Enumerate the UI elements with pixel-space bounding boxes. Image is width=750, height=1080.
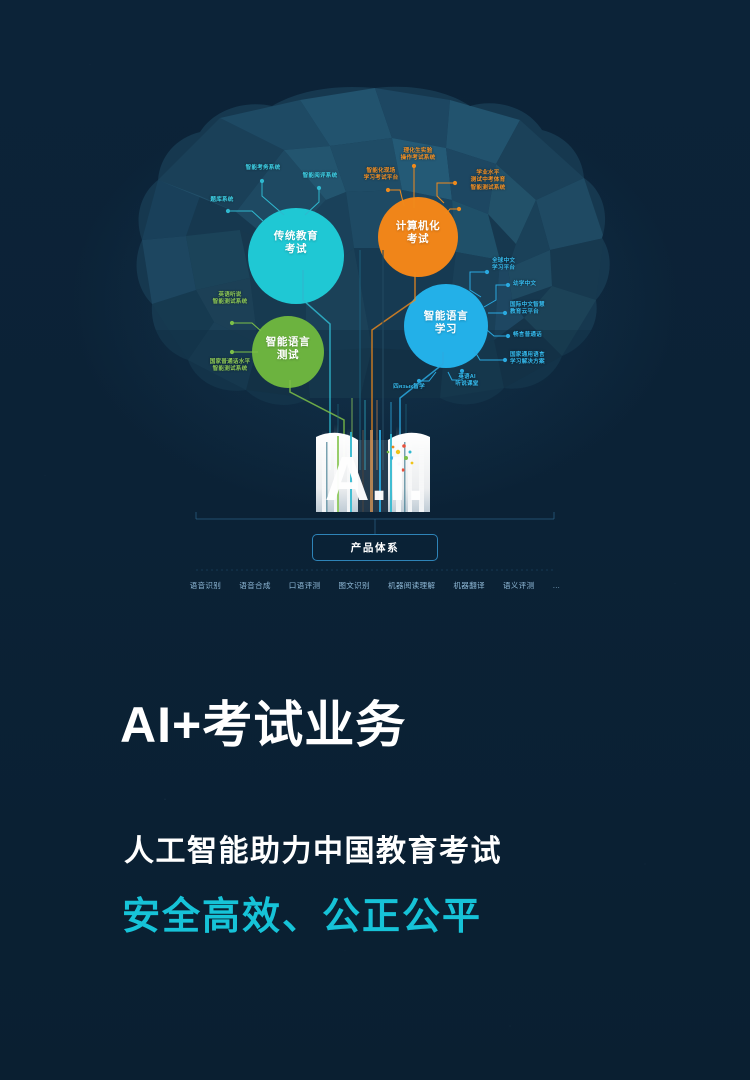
node-label-question-bank: 题库系统 [196,197,248,204]
hero-illustration: A.I. 传统教育 考试 计算机化 考试 智能语言 测试 智能语言 学习 智能考… [0,0,750,620]
tag-item[interactable]: 语音识别 [181,580,231,591]
bubble-intelligent-language-learning[interactable] [404,284,488,368]
node-label-academic-level-test: 学业水平 测试中考体育 智能测试系统 [452,170,524,192]
tag-item[interactable]: 图文识别 [329,580,379,591]
node-label-preschool-chinese: 幼学中文 [513,281,577,288]
tagline: 安全高效、公正公平 [122,892,482,942]
node-label-intelligent-grading: 智能阅评系统 [289,173,351,180]
page-root: A.I. 传统教育 考试 计算机化 考试 智能语言 测试 智能语言 学习 智能考… [0,0,750,1080]
node-label-smart-learning: 四язык智学 [382,384,436,391]
node-label-changyan-putonghua: 畅言普通话 [513,332,577,339]
node-label-global-chinese-learning-platform: 全球中文 学习平台 [492,258,556,273]
hero-copy-block: AI+考试业务 人工智能助力中国教育考试 安全高效、公正公平 [0,620,750,1080]
tag-item[interactable]: 语义评测 [494,580,544,591]
product-system-pill[interactable]: 产品体系 [312,534,438,561]
node-label-putonghua-proficiency-test: 国家普通话水平 智能测试系统 [190,359,270,374]
node-label-smart-onsite-platform: 智能化现场 学习考试平台 [348,168,414,183]
tag-item-more[interactable]: … [543,581,569,590]
node-label-national-language-solution: 国家通用语言 学习解决方案 [510,352,582,367]
bubble-traditional-education-exam[interactable] [248,208,344,304]
node-label-english-listening-speaking-test: 英语听说 智能测试系统 [194,292,266,307]
node-label-lab-operation-exam: 理化生实验 操作考试系统 [385,148,451,163]
capability-tag-row: 语音识别 语音合成 口语评测 图文识别 机器阅读理解 机器翻译 语义评测 … [0,580,750,591]
tag-item[interactable]: 语音合成 [230,580,280,591]
node-label-intl-chinese-cloud-platform: 国际中文智慧 教育云平台 [510,302,580,317]
subheadline: 人工智能助力中国教育考试 [124,832,502,872]
product-system-label: 产品体系 [351,540,399,555]
headline: AI+考试业务 [120,696,406,754]
tag-item[interactable]: 口语评测 [280,580,330,591]
brain-diagram-svg: A.I. [0,0,750,620]
node-label-english-ai-classroom: 英语AI 听说课堂 [438,374,496,389]
tag-item[interactable]: 机器翻译 [444,580,494,591]
tag-item[interactable]: 机器阅读理解 [379,580,444,591]
node-label-intelligent-exam-admin: 智能考务系统 [230,165,296,172]
ai-wordmark: A.I. [325,445,425,514]
svg-text:A.I.: A.I. [325,445,425,514]
bubble-intelligent-language-test[interactable] [252,316,324,388]
bubble-computerized-exam[interactable] [378,197,458,277]
